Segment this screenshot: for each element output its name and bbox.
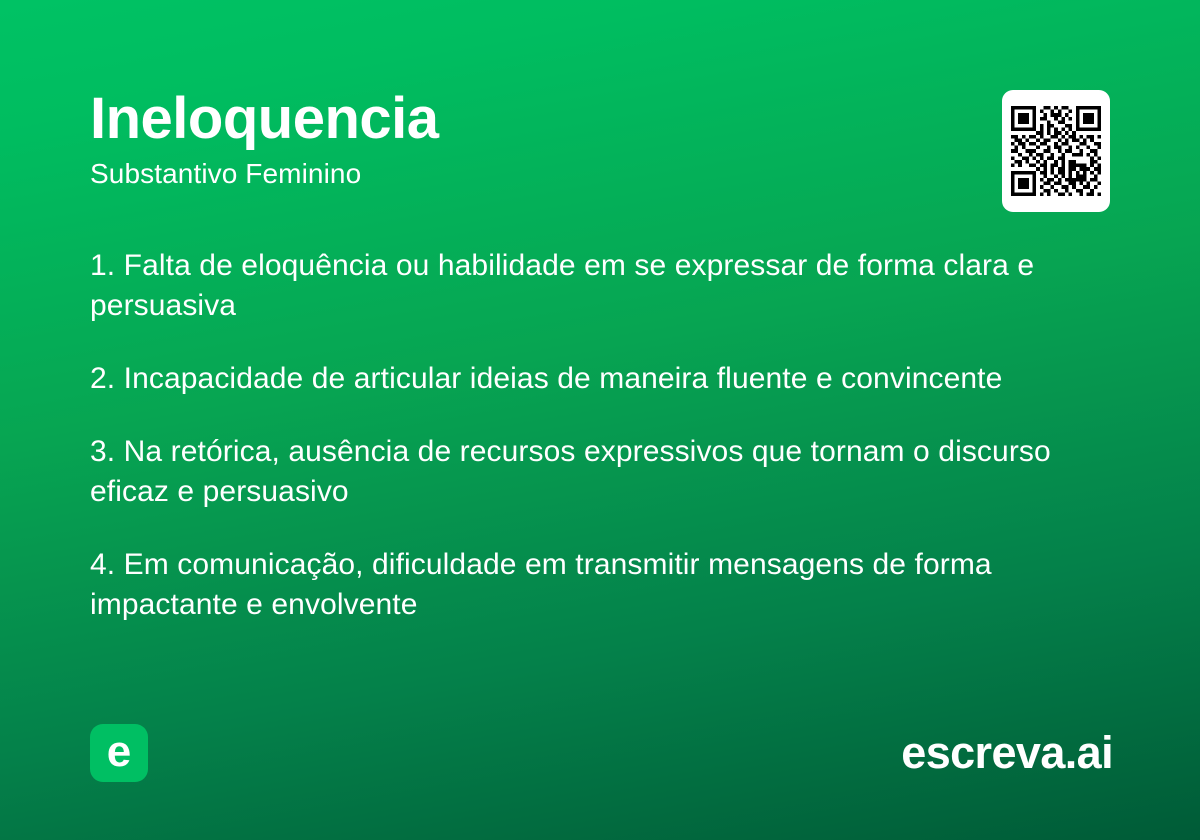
definition-list: 1. Falta de eloquência ou habilidade em … (90, 246, 1080, 625)
brand-name: escreva.ai (901, 727, 1113, 779)
escreva-logo-icon[interactable]: e (90, 724, 148, 782)
qr-code-frame[interactable] (1002, 90, 1110, 212)
list-item: 1. Falta de eloquência ou habilidade em … (90, 246, 1080, 326)
qr-code-icon (1011, 106, 1101, 196)
card-header: Ineloquencia Substantivo Feminino (90, 88, 970, 190)
logo-letter: e (107, 730, 131, 774)
list-item: 4. Em comunicação, dificuldade em transm… (90, 545, 1080, 625)
word-class-label: Substantivo Feminino (90, 158, 970, 190)
word-definition-card: Ineloquencia Substantivo Feminino (0, 0, 1200, 840)
list-item: 2. Incapacidade de articular ideias de m… (90, 359, 1080, 399)
page-title: Ineloquencia (90, 88, 970, 150)
list-item: 3. Na retórica, ausência de recursos exp… (90, 432, 1080, 512)
